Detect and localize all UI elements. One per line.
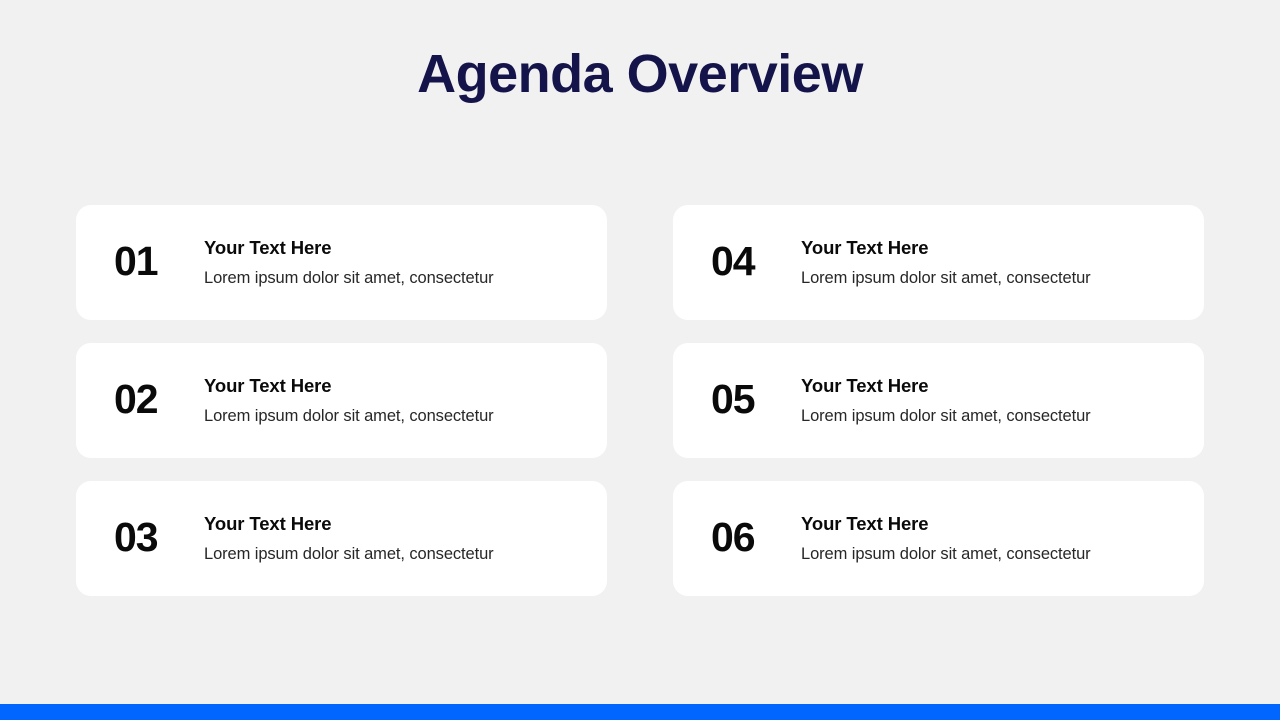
agenda-card-description: Lorem ipsum dolor sit amet, consectetur: [801, 267, 1204, 290]
agenda-card-01[interactable]: 01 Your Text Here Lorem ipsum dolor sit …: [76, 205, 607, 320]
agenda-card-text: Your Text Here Lorem ipsum dolor sit ame…: [801, 236, 1204, 290]
agenda-card-heading: Your Text Here: [204, 236, 607, 260]
agenda-card-03[interactable]: 03 Your Text Here Lorem ipsum dolor sit …: [76, 481, 607, 596]
agenda-card-04[interactable]: 04 Your Text Here Lorem ipsum dolor sit …: [673, 205, 1204, 320]
agenda-card-description: Lorem ipsum dolor sit amet, consectetur: [801, 405, 1204, 428]
agenda-card-heading: Your Text Here: [801, 236, 1204, 260]
agenda-card-heading: Your Text Here: [801, 374, 1204, 398]
agenda-card-heading: Your Text Here: [204, 374, 607, 398]
agenda-card-grid: 01 Your Text Here Lorem ipsum dolor sit …: [76, 205, 1204, 597]
agenda-card-description: Lorem ipsum dolor sit amet, consectetur: [204, 543, 607, 566]
agenda-card-number: 03: [114, 517, 204, 558]
agenda-card-05[interactable]: 05 Your Text Here Lorem ipsum dolor sit …: [673, 343, 1204, 458]
agenda-card-heading: Your Text Here: [204, 512, 607, 536]
agenda-card-text: Your Text Here Lorem ipsum dolor sit ame…: [801, 374, 1204, 428]
agenda-card-number: 06: [711, 517, 801, 558]
agenda-card-number: 01: [114, 241, 204, 282]
agenda-card-description: Lorem ipsum dolor sit amet, consectetur: [801, 543, 1204, 566]
agenda-card-text: Your Text Here Lorem ipsum dolor sit ame…: [204, 374, 607, 428]
agenda-card-text: Your Text Here Lorem ipsum dolor sit ame…: [204, 236, 607, 290]
agenda-card-number: 04: [711, 241, 801, 282]
agenda-card-heading: Your Text Here: [801, 512, 1204, 536]
agenda-card-02[interactable]: 02 Your Text Here Lorem ipsum dolor sit …: [76, 343, 607, 458]
page-title: Agenda Overview: [0, 38, 1280, 110]
agenda-card-text: Your Text Here Lorem ipsum dolor sit ame…: [801, 512, 1204, 566]
agenda-card-number: 02: [114, 379, 204, 420]
agenda-card-description: Lorem ipsum dolor sit amet, consectetur: [204, 405, 607, 428]
bottom-accent-bar: [0, 704, 1280, 720]
agenda-card-description: Lorem ipsum dolor sit amet, consectetur: [204, 267, 607, 290]
agenda-card-text: Your Text Here Lorem ipsum dolor sit ame…: [204, 512, 607, 566]
agenda-card-number: 05: [711, 379, 801, 420]
agenda-card-06[interactable]: 06 Your Text Here Lorem ipsum dolor sit …: [673, 481, 1204, 596]
